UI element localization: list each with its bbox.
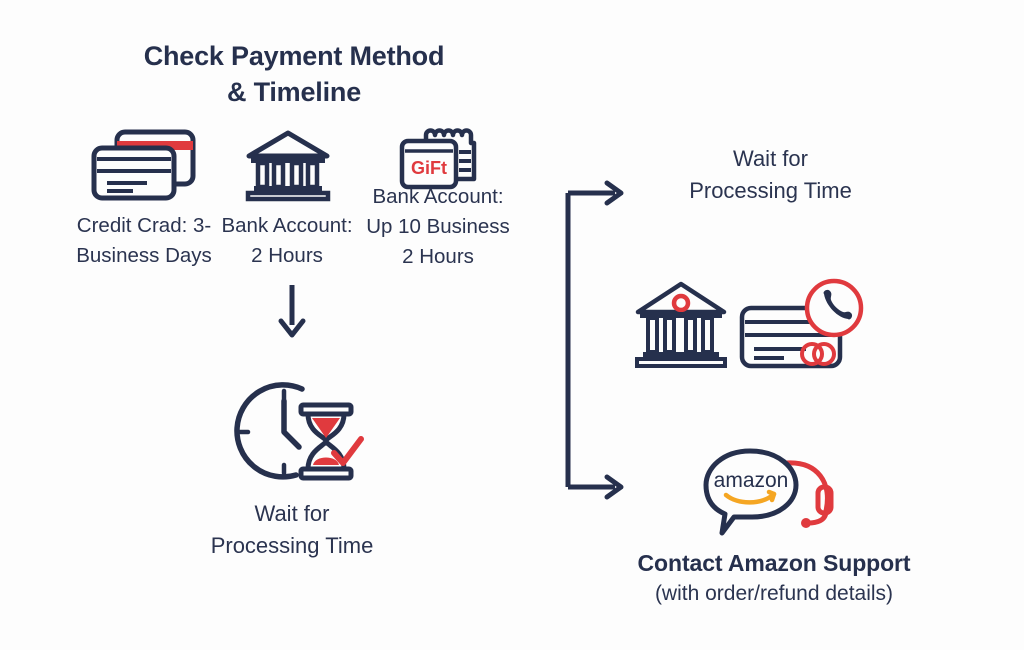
branch-connector — [555, 180, 645, 500]
left-step-label: Wait for Processing Time — [172, 498, 412, 562]
bank-card-phone-icon — [634, 272, 874, 372]
diagram-canvas: Check Payment Method & Timeline Credit C… — [0, 0, 1024, 650]
payment-method-3-label-line3: 2 Hours — [336, 242, 540, 272]
right-step-top-label: Wait for Processing Time — [648, 143, 893, 207]
page-title-line1: Check Payment Method — [134, 38, 454, 74]
amazon-logo-text: amazon — [714, 469, 789, 492]
payment-method-3-label: Bank Account: Up 10 Business 2 Hours — [336, 182, 540, 272]
support-title: Contact Amazon Support — [596, 548, 952, 579]
clock-hourglass-icon — [228, 375, 368, 485]
left-step-label-line2: Processing Time — [172, 530, 412, 562]
gift-card-text: GiFt — [411, 158, 447, 178]
right-step-top-label-line1: Wait for — [648, 143, 893, 175]
payment-method-3-label-line1: Bank Account: — [336, 182, 540, 212]
support-subtitle: (with order/refund details) — [596, 579, 952, 609]
credit-cards-icon — [88, 128, 200, 202]
arrow-down-connector — [272, 283, 312, 339]
page-title: Check Payment Method & Timeline — [134, 38, 454, 110]
right-step-top-label-line2: Processing Time — [648, 175, 893, 207]
left-step-label-line1: Wait for — [172, 498, 412, 530]
page-title-line2: & Timeline — [134, 74, 454, 110]
right-step-bottom-label: Contact Amazon Support (with order/refun… — [596, 548, 952, 609]
payment-method-3-label-line2: Up 10 Business — [336, 212, 540, 242]
bank-building-icon — [245, 130, 331, 200]
amazon-support-icon: amazon — [700, 443, 860, 535]
